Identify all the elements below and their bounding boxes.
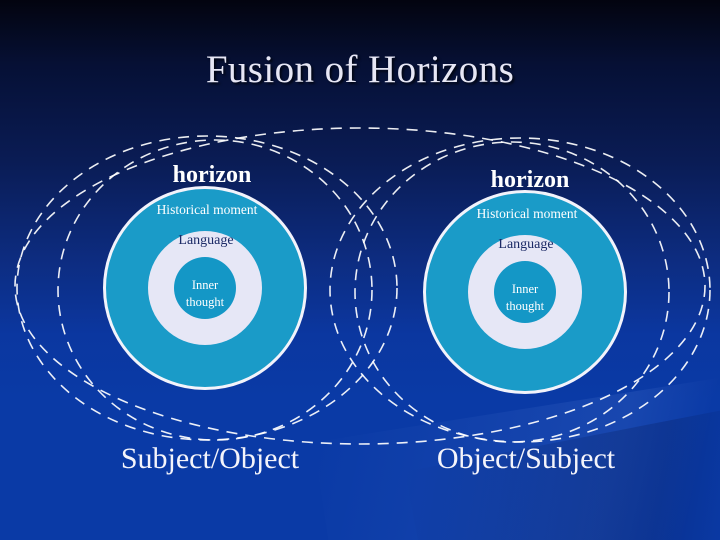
inner-thought-label-left: Inner thought [145, 277, 265, 311]
historical-moment-label-left: Historical moment [97, 202, 317, 218]
inner-thought-line1: Inner [465, 281, 585, 298]
horizon-label-right: horizon [410, 167, 650, 193]
caption-object-subject: Object/Subject [376, 442, 676, 476]
inner-thought-line2: thought [465, 298, 585, 315]
page-title: Fusion of Horizons [0, 48, 720, 92]
language-label-right: Language [436, 236, 616, 253]
inner-thought-line1: Inner [145, 277, 265, 294]
slide-canvas: Fusion of Horizons horizon Historical mo… [0, 0, 720, 540]
inner-thought-line2: thought [145, 294, 265, 311]
horizon-label-left: horizon [92, 162, 332, 188]
language-label-left: Language [116, 232, 296, 249]
inner-thought-label-right: Inner thought [465, 281, 585, 315]
caption-subject-object: Subject/Object [60, 442, 360, 476]
historical-moment-label-right: Historical moment [417, 206, 637, 222]
